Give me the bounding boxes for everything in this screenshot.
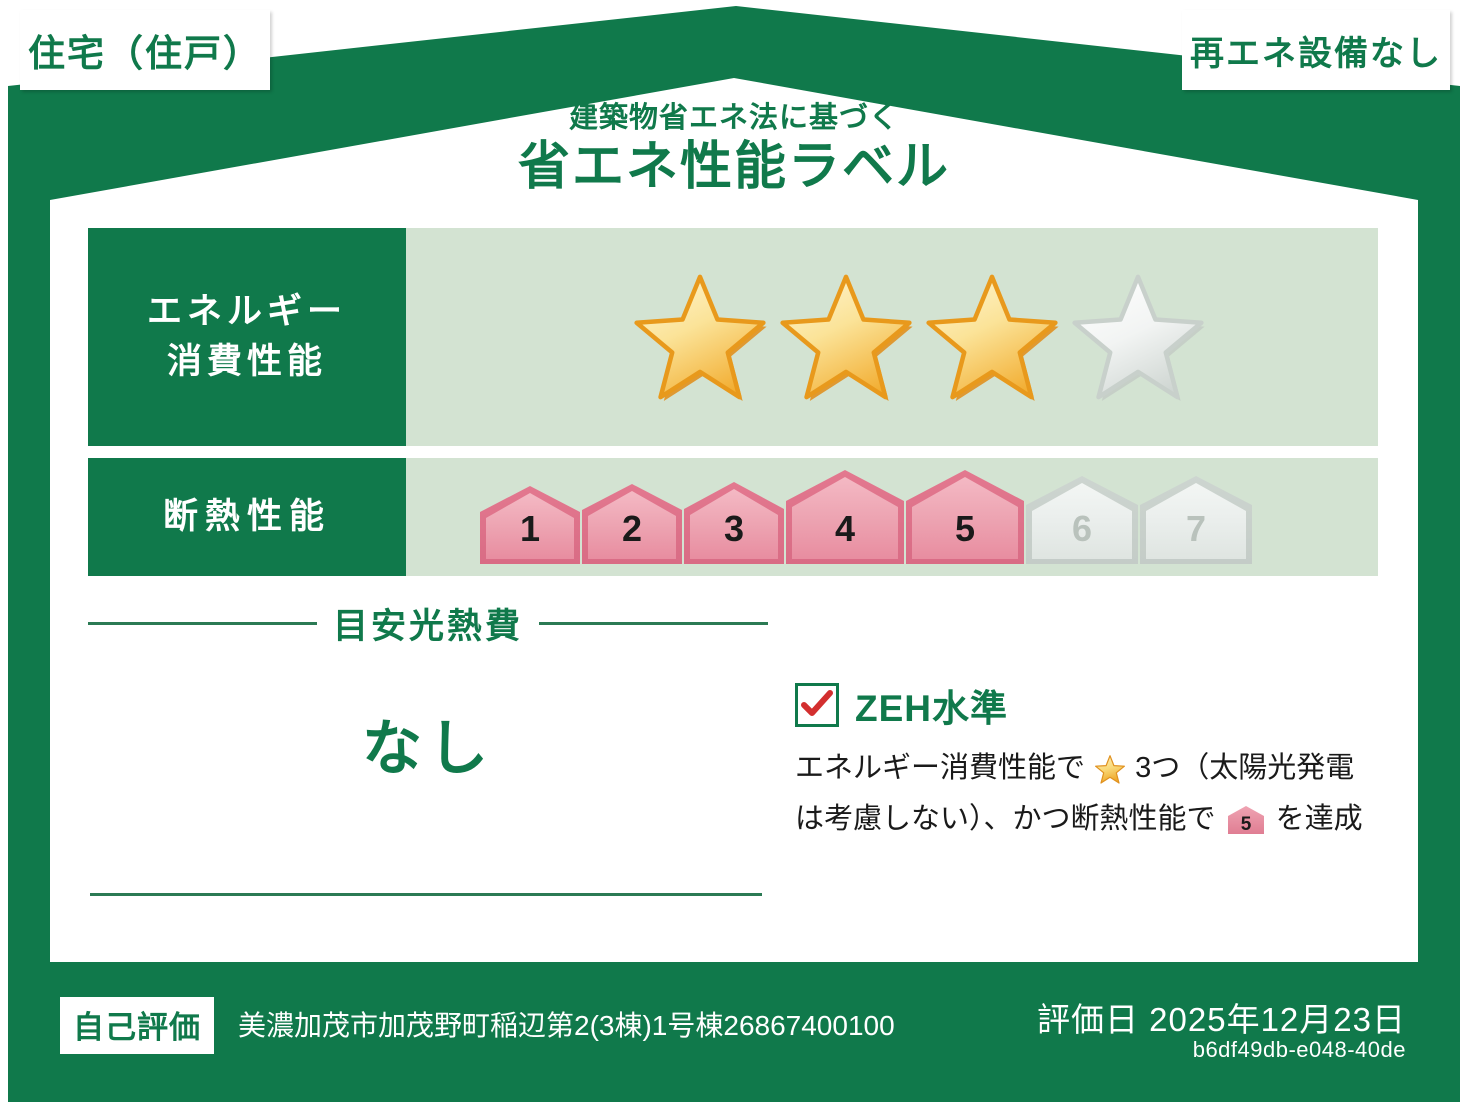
building-type-tag: 住宅（住戸）	[20, 10, 270, 90]
zeh-heading: ZEH水準	[795, 678, 1395, 732]
insulation-label-line1: 断熱性能	[163, 492, 331, 542]
insulation-level-badge-active: 4	[786, 470, 904, 564]
page-title: 省エネ性能ラベル	[0, 138, 1468, 198]
energy-performance-row: エネルギー 消費性能	[88, 228, 1378, 446]
insulation-level-badge-inactive: 6	[1026, 476, 1138, 564]
insulation-performance-row: 断熱性能 1234567	[88, 458, 1378, 576]
evaluation-date: 評価日 2025年12月23日	[1037, 993, 1406, 1041]
energy-label-line1: エネルギー	[147, 287, 347, 337]
inline-house-badge-number: 5	[1240, 814, 1251, 835]
utility-cost-heading: 目安光熱費	[88, 598, 768, 649]
insulation-level-badge-active: 3	[684, 482, 784, 564]
star-icon-filled	[779, 273, 913, 401]
evaluation-id: b6df49db-e048-40de	[1193, 1037, 1406, 1063]
zeh-desc-line1-pre: エネルギー消費性能で	[795, 752, 1085, 784]
insulation-level-number: 5	[906, 508, 1024, 550]
star-icon-filled	[925, 273, 1059, 401]
utility-cost-title: 目安光熱費	[333, 598, 523, 649]
insulation-level-badge-active: 2	[582, 484, 682, 564]
divider-line-right	[539, 622, 768, 625]
star-icon-empty	[1071, 273, 1205, 401]
label-footer: 自己評価 美濃加茂市加茂野町稲辺第2(3棟)1号棟26867400100 評価日…	[0, 985, 1468, 1085]
self-evaluation-badge: 自己評価	[60, 997, 214, 1054]
insulation-level-badge-inactive: 7	[1140, 476, 1252, 564]
inline-star-icon	[1095, 753, 1125, 797]
insulation-level-number: 4	[786, 508, 904, 550]
star-rating	[633, 273, 1205, 401]
energy-performance-label-cell: エネルギー 消費性能	[88, 228, 406, 446]
insulation-level-badge-active: 5	[906, 470, 1024, 564]
energy-performance-value-cell	[406, 228, 1378, 446]
zeh-standard-block: ZEH水準 エネルギー消費性能で	[795, 678, 1395, 848]
renewable-energy-tag: 再エネ設備なし	[1182, 10, 1450, 90]
zeh-desc-line2-post: を達成	[1276, 803, 1363, 835]
insulation-level-badge-active: 1	[480, 486, 580, 564]
insulation-level-number: 6	[1026, 508, 1138, 550]
title-subtitle: 建築物省エネ法に基づく	[0, 100, 1468, 136]
zeh-checkbox[interactable]	[795, 683, 839, 727]
insulation-performance-label-cell: 断熱性能	[88, 458, 406, 576]
zeh-title: ZEH水準	[855, 678, 1008, 732]
utility-bottom-rule	[90, 893, 762, 896]
energy-performance-label: 住宅（住戸） 再エネ設備なし 建築物省エネ法に基づく 省エネ性能ラベル エネルギ…	[0, 0, 1468, 1108]
zeh-desc-line1-post: 3つ（太陽光発電	[1135, 752, 1354, 784]
zeh-description: エネルギー消費性能で 3つ（太陽光発電	[795, 746, 1395, 848]
divider-line-left	[88, 622, 317, 625]
insulation-level-number: 7	[1140, 508, 1252, 550]
label-title-block: 建築物省エネ法に基づく 省エネ性能ラベル	[0, 100, 1468, 198]
utility-cost-value: なし	[88, 700, 768, 787]
insulation-level-scale: 1234567	[480, 470, 1252, 564]
zeh-desc-line2-pre: は考慮しない）、かつ断熱性能で	[795, 803, 1216, 835]
zeh-description-line2: は考慮しない）、かつ断熱性能で 5 を達成	[795, 797, 1395, 848]
insulation-level-number: 2	[582, 508, 682, 550]
inline-house-badge-icon: 5	[1226, 804, 1266, 848]
star-icon-filled	[633, 273, 767, 401]
check-icon	[801, 690, 833, 720]
insulation-level-number: 1	[480, 508, 580, 550]
property-address: 美濃加茂市加茂野町稲辺第2(3棟)1号棟26867400100	[238, 1004, 895, 1044]
insulation-performance-value-cell: 1234567	[406, 458, 1378, 576]
insulation-level-number: 3	[684, 508, 784, 550]
energy-label-line2: 消費性能	[167, 337, 327, 387]
zeh-description-line1: エネルギー消費性能で 3つ（太陽光発電	[795, 746, 1395, 797]
